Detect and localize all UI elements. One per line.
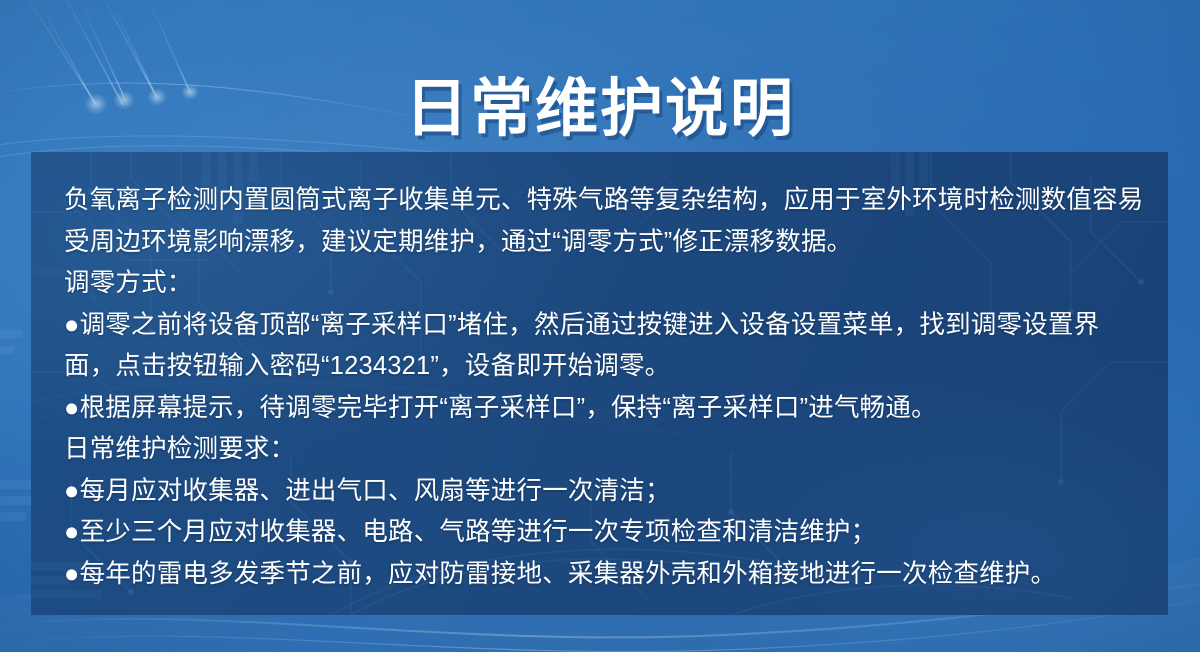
bullet-line-monthly-cleaning: ●每月应对收集器、进出气口、风扇等进行一次清洁； — [64, 471, 1144, 513]
maintenance-instructions-body: 负氧离子检测内置圆筒式离子收集单元、特殊气路等复杂结构，应用于室外环境时检测数值… — [64, 180, 1144, 595]
section-label-maintenance-requirements: 日常维护检测要求： — [64, 429, 1144, 471]
section-label-zeroing-method: 调零方式： — [64, 263, 1144, 305]
page-title: 日常维护说明 — [405, 78, 795, 141]
bullet-line-zeroing-step-2: ●根据屏幕提示，待调零完毕打开“离子采样口”，保持“离子采样口”进气畅通。 — [64, 388, 1144, 430]
bullet-line-quarterly-inspection: ●至少三个月应对收集器、电路、气路等进行一次专项检查和清洁维护； — [64, 512, 1144, 554]
content-panel: 负氧离子检测内置圆筒式离子收集单元、特殊气路等复杂结构，应用于室外环境时检测数值… — [31, 152, 1168, 615]
bullet-line-zeroing-step-1-continued: 面，点击按钮输入密码“1234321”，设备即开始调零。 — [64, 346, 1144, 388]
poster-root: 日常维护说明 — [0, 0, 1200, 652]
body-line: 负氧离子检测内置圆筒式离子收集单元、特殊气路等复杂结构，应用于室外环境时检测数值… — [64, 180, 1144, 222]
body-line: 受周边环境影响漂移，建议定期维护，通过“调零方式”修正漂移数据。 — [64, 222, 1144, 264]
bullet-line-zeroing-step-1: ●调零之前将设备顶部“离子采样口”堵住，然后通过按键进入设备设置菜单，找到调零设… — [64, 305, 1144, 347]
bullet-line-annual-lightning-check: ●每年的雷电多发季节之前，应对防雷接地、采集器外壳和外箱接地进行一次检查维护。 — [64, 554, 1144, 596]
